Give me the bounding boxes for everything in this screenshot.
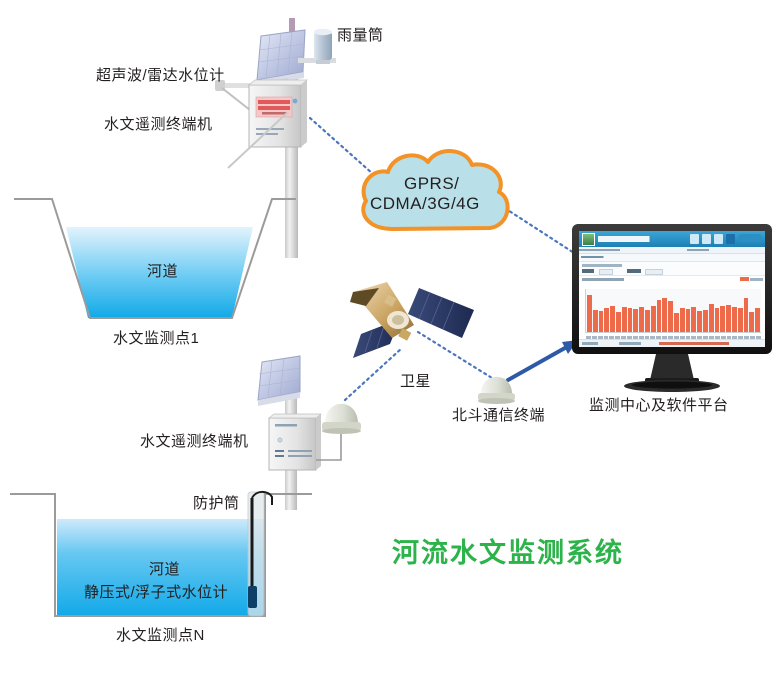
- diagram-title: 河流水文监测系统: [392, 531, 624, 570]
- label-channel-bottom: 河道: [149, 558, 180, 579]
- label-pressure-float-level-meter: 静压式/浮子式水位计: [84, 581, 228, 602]
- label-site-n: 水文监测点N: [116, 624, 205, 645]
- diagram-canvas: 雨量筒 超声波/雷达水位计 水文遥测终端机 河道 水文监测点1 GPRS/ CD…: [0, 0, 783, 684]
- water-level-sensor-probe: [248, 586, 257, 608]
- protective-tube: [248, 492, 272, 616]
